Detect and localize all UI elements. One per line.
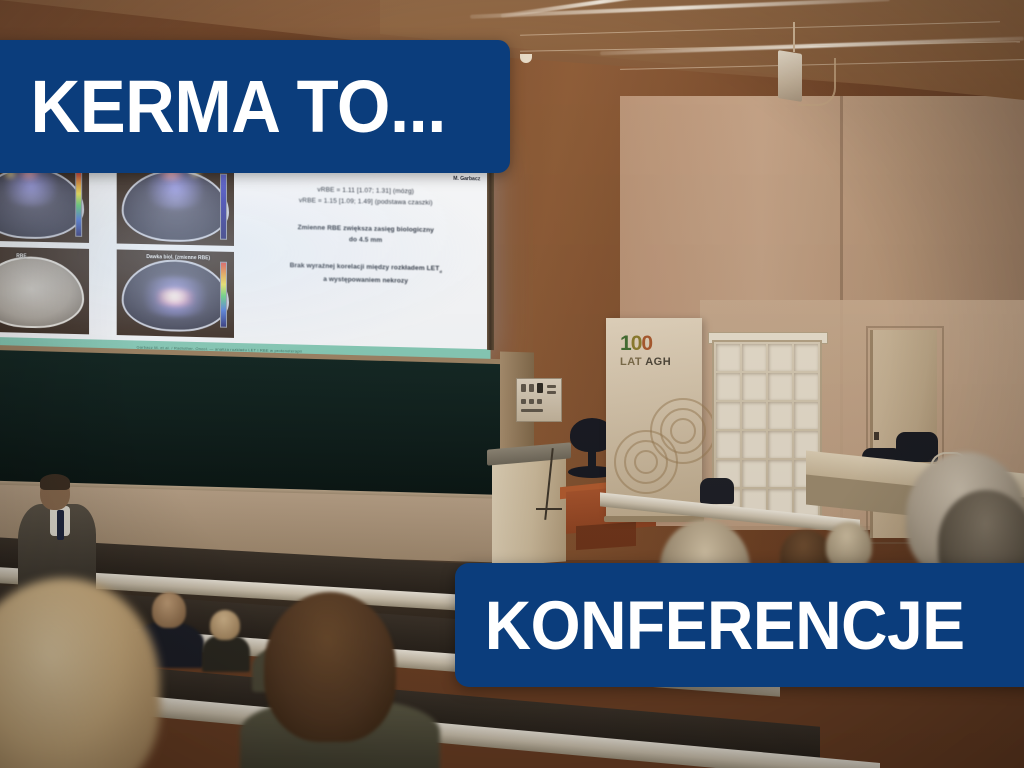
bottom-category-text: KONFERENCJE — [455, 591, 965, 660]
screen-roller — [487, 160, 494, 350]
ct-brain-image — [0, 255, 84, 329]
colorbar — [220, 174, 227, 240]
colorbar — [220, 262, 227, 328]
top-title-text: KERMA TO... — [0, 70, 446, 144]
panel-label: Dawka biol. (zmienne RBE) — [140, 254, 216, 263]
stacked-chair — [896, 432, 938, 462]
colorbar — [75, 171, 82, 237]
pet-panel-upper-right — [117, 162, 234, 246]
slide-author-name: M. Garbacz — [451, 176, 480, 183]
audience-member-head — [210, 610, 240, 640]
slide-note-1: Brak wyraźnej korelacji między rozkładem… — [290, 262, 440, 272]
slide-note-subscript: d — [439, 269, 442, 274]
slide-conclusion-2: do 4.5 mm — [349, 236, 382, 244]
wooden-desk-leg — [576, 522, 636, 550]
hanging-bracket — [798, 58, 836, 106]
door-handle-icon — [874, 432, 879, 440]
presentation-slide: Raport M. Garbacz — [0, 144, 491, 363]
top-title-banner: KERMA TO... — [0, 40, 510, 173]
speaker-tie — [57, 510, 64, 540]
pet-panel-lower-right: Dawka biol. (zmienne RBE) — [117, 249, 234, 337]
agh-rollup-banner: 100 LAT AGH — [606, 318, 702, 518]
agh-centennial-logo: 100 — [620, 334, 652, 354]
screenshot-root: Raport M. Garbacz — [0, 0, 1024, 768]
projection-screen: Raport M. Garbacz — [0, 144, 491, 363]
speaker-hair — [40, 474, 70, 490]
audience-member-head-foreground — [264, 592, 396, 742]
ct-panel-lower-left: RBE — [0, 246, 89, 334]
audience-member-head — [152, 592, 186, 628]
slide-conclusion-1: Zmienne RBE zwiększa zasięg biologiczny — [298, 224, 434, 234]
hanging-rod — [793, 22, 795, 52]
stacked-chair — [700, 478, 734, 504]
slide-text-block: vRBE = 1.11 [1.07; 1.31] (mózg) vRBE = 1… — [258, 184, 474, 289]
bottom-category-banner: KONFERENCJE — [455, 563, 1024, 687]
slide-note-2: a występowaniem nekrozy — [323, 276, 408, 285]
wall-control-panel — [516, 378, 562, 422]
agh-banner-subtitle: LAT AGH — [620, 356, 671, 368]
microphone-arm — [536, 508, 562, 510]
hanging-projector-icon — [778, 50, 802, 102]
agh-banner-base — [604, 516, 704, 522]
panel-label: RBE — [16, 253, 26, 259]
pet-ct-image-grid: RBE Dawka biol. (zmienne RBE) — [0, 159, 238, 340]
